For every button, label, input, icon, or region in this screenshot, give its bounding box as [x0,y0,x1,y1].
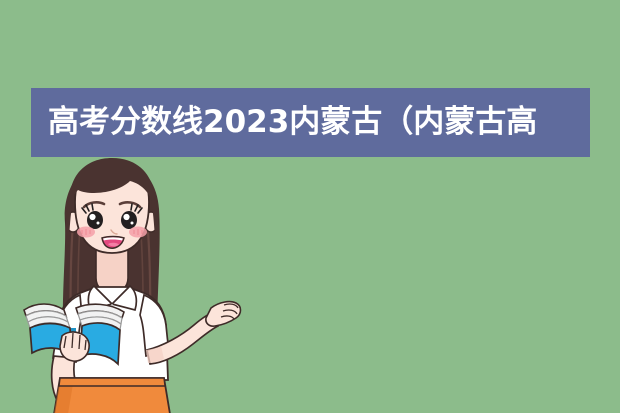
hand-right [206,302,241,327]
blush-left [77,227,95,238]
schoolgirl-illustration [18,150,248,413]
image-canvas: 高考分数线2023内蒙古（内蒙古高 [0,0,620,413]
title-banner: 高考分数线2023内蒙古（内蒙古高 [31,88,590,157]
illustration-group [24,158,241,413]
hand-left [60,332,89,361]
blush-right [129,227,147,238]
page-title: 高考分数线2023内蒙古（内蒙古高 [31,107,537,138]
skirt-waistband [59,378,165,386]
